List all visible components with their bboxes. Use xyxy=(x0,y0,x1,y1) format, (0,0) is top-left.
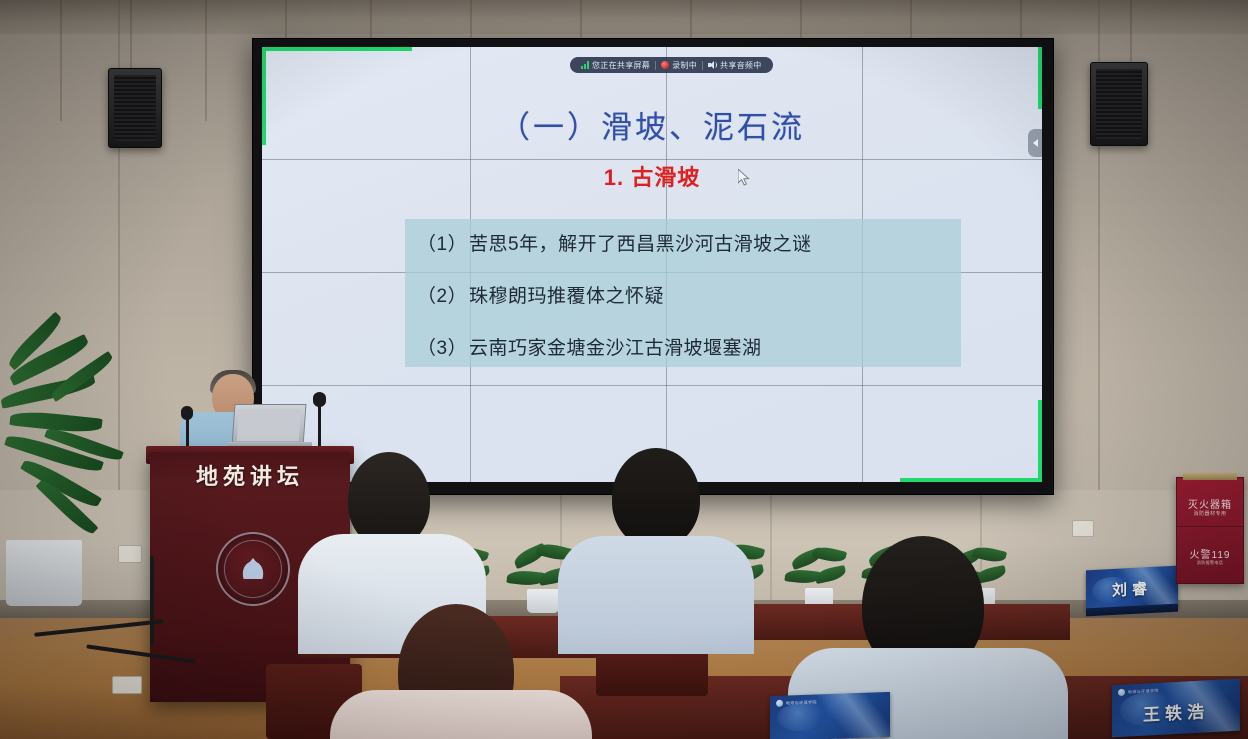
list-item-text: 珠穆朗玛推覆体之怀疑 xyxy=(469,286,664,307)
org-logo-icon xyxy=(776,700,783,707)
cabinet-title: 灭火器箱 xyxy=(1177,496,1243,511)
presenter-laptop xyxy=(232,404,307,446)
sharing-status: 您正在共享屏幕 xyxy=(576,60,655,71)
signal-bars-icon xyxy=(581,61,589,69)
nameplate: 地球与环境学院 xyxy=(770,692,890,739)
podium-mic-right-head xyxy=(313,392,326,407)
recording-label: 录制中 xyxy=(672,60,697,71)
screen-share-toolbar[interactable]: 您正在共享屏幕 录制中 共享音频中 xyxy=(570,57,773,73)
floor-junction-box xyxy=(112,676,142,694)
university-emblem xyxy=(216,532,290,606)
emergency-subtitle: 消防报警电话 xyxy=(1177,560,1243,566)
recording-status[interactable]: 录制中 xyxy=(656,60,702,71)
slide-surface: （一）滑坡、泥石流 1. 古滑坡 （1）苦思5年，解开了西昌黑沙河古滑坡之谜 （… xyxy=(262,47,1042,482)
list-item-number: （1） xyxy=(417,229,469,256)
slide-title: （一）滑坡、泥石流 xyxy=(262,102,1042,147)
share-border-right-bottom xyxy=(1038,400,1042,482)
slide-list-item: （2）珠穆朗玛推覆体之怀疑 xyxy=(417,281,664,308)
ceiling-band xyxy=(0,0,1248,34)
wall-speaker-right xyxy=(1090,62,1148,146)
share-border-bottom-right xyxy=(900,478,1042,482)
podium-cable xyxy=(150,556,154,646)
wall-outlet xyxy=(1072,520,1094,537)
panel-collapse-handle[interactable] xyxy=(1028,129,1042,157)
nameplate-org: 地球与环境学院 xyxy=(776,698,817,706)
slide-list-item: （3）云南巧家金塘金沙江古滑坡堰塞湖 xyxy=(417,333,762,360)
fire-extinguisher-cabinet: 灭火器箱 消防器材专用 火警119 消防报警电话 xyxy=(1176,477,1244,584)
org-logo-icon xyxy=(1118,689,1125,696)
presentation-screen[interactable]: （一）滑坡、泥石流 1. 古滑坡 （1）苦思5年，解开了西昌黑沙河古滑坡之谜 （… xyxy=(262,47,1042,482)
audio-share-status[interactable]: 共享音频中 xyxy=(703,60,767,71)
slide-list-item: （1）苦思5年，解开了西昌黑沙河古滑坡之谜 xyxy=(417,229,812,256)
wall-speaker-left xyxy=(108,68,162,148)
podium-label: 地苑讲坛 xyxy=(150,452,350,498)
chevron-left-icon xyxy=(1033,139,1038,147)
share-border-left xyxy=(262,47,266,145)
record-dot-icon xyxy=(661,61,669,69)
lecture-hall-photo: （一）滑坡、泥石流 1. 古滑坡 （1）苦思5年，解开了西昌黑沙河古滑坡之谜 （… xyxy=(0,0,1248,739)
list-item-number: （2） xyxy=(417,281,469,308)
audio-label: 共享音频中 xyxy=(720,60,762,71)
list-item-text: 苦思5年，解开了西昌黑沙河古滑坡之谜 xyxy=(469,234,812,255)
speaker-audio-icon xyxy=(708,61,717,69)
cabinet-top-trim xyxy=(1183,473,1237,480)
list-item-text: 云南巧家金塘金沙江古滑坡堰塞湖 xyxy=(469,338,762,359)
list-item-number: （3） xyxy=(417,333,469,360)
slide-subtitle: 1. 古滑坡 xyxy=(262,160,1042,192)
emergency-number: 火警119 xyxy=(1177,546,1243,561)
plant-pot xyxy=(6,540,82,606)
large-floor-plant xyxy=(0,330,150,620)
share-border-top-left xyxy=(262,47,412,51)
nameplate: 地球与环境学院 王轶浩 xyxy=(1112,679,1240,738)
podium-mic-left-head xyxy=(181,406,193,420)
stage-plant xyxy=(785,548,861,610)
cabinet-subtitle: 消防器材专用 xyxy=(1177,510,1243,517)
share-border-right-top xyxy=(1038,47,1042,109)
sharing-label: 您正在共享屏幕 xyxy=(592,60,650,71)
